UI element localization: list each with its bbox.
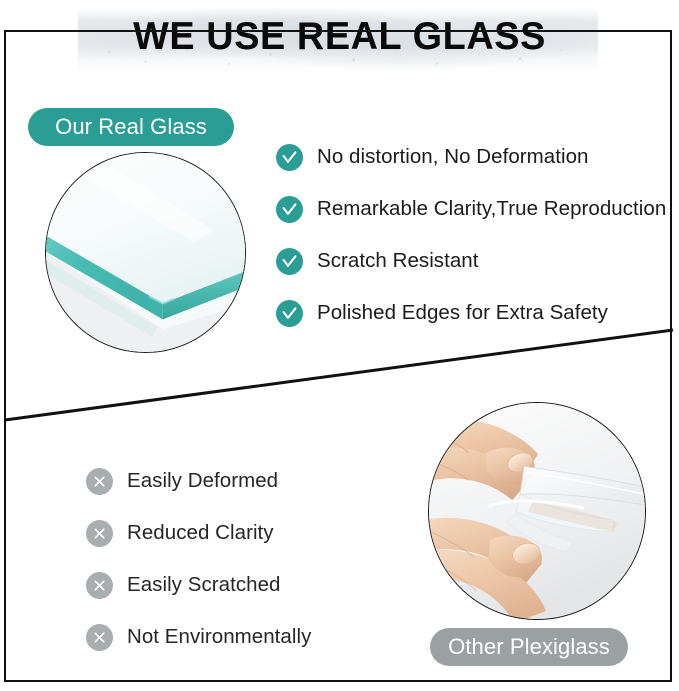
check-circle-icon bbox=[276, 196, 303, 223]
plexiglass-photo bbox=[428, 402, 646, 620]
bad-feature-row-1: Easily Deformed bbox=[86, 455, 311, 507]
bad-feature-row-4: Not Environmentally bbox=[86, 611, 311, 663]
infographic-canvas: WE USE REAL GLASS Our Real Glass bbox=[0, 0, 679, 691]
x-circle-icon bbox=[86, 572, 113, 599]
badge-other-plexiglass: Other Plexiglass bbox=[430, 628, 628, 666]
good-feature-row-4: Polished Edges for Extra Safety bbox=[276, 287, 666, 339]
badge-other-plexiglass-label: Other Plexiglass bbox=[448, 634, 610, 660]
bad-feature-label-4: Not Environmentally bbox=[127, 625, 311, 649]
check-circle-icon bbox=[276, 144, 303, 171]
bad-feature-row-2: Reduced Clarity bbox=[86, 507, 311, 559]
badge-our-real-glass: Our Real Glass bbox=[28, 108, 234, 146]
x-circle-icon bbox=[86, 468, 113, 495]
good-feature-row-3: Scratch Resistant bbox=[276, 235, 666, 287]
check-circle-icon bbox=[276, 300, 303, 327]
good-feature-list: No distortion, No Deformation Remarkable… bbox=[276, 131, 666, 339]
real-glass-photo bbox=[45, 152, 246, 353]
good-feature-label-1: No distortion, No Deformation bbox=[317, 145, 588, 169]
check-circle-icon bbox=[276, 248, 303, 275]
good-feature-label-3: Scratch Resistant bbox=[317, 249, 479, 273]
good-feature-row-1: No distortion, No Deformation bbox=[276, 131, 666, 183]
bad-feature-label-1: Easily Deformed bbox=[127, 469, 278, 493]
badge-our-real-glass-label: Our Real Glass bbox=[55, 114, 207, 140]
x-circle-icon bbox=[86, 520, 113, 547]
good-feature-row-2: Remarkable Clarity,True Reproduction bbox=[276, 183, 666, 235]
bad-feature-row-3: Easily Scratched bbox=[86, 559, 311, 611]
x-circle-icon bbox=[86, 624, 113, 651]
page-title: WE USE REAL GLASS bbox=[10, 13, 669, 61]
bad-feature-label-2: Reduced Clarity bbox=[127, 521, 274, 545]
bad-feature-list: Easily Deformed Reduced Clarity Easily S… bbox=[86, 455, 311, 663]
bad-feature-label-3: Easily Scratched bbox=[127, 573, 280, 597]
good-feature-label-2: Remarkable Clarity,True Reproduction bbox=[317, 197, 666, 221]
good-feature-label-4: Polished Edges for Extra Safety bbox=[317, 301, 608, 325]
